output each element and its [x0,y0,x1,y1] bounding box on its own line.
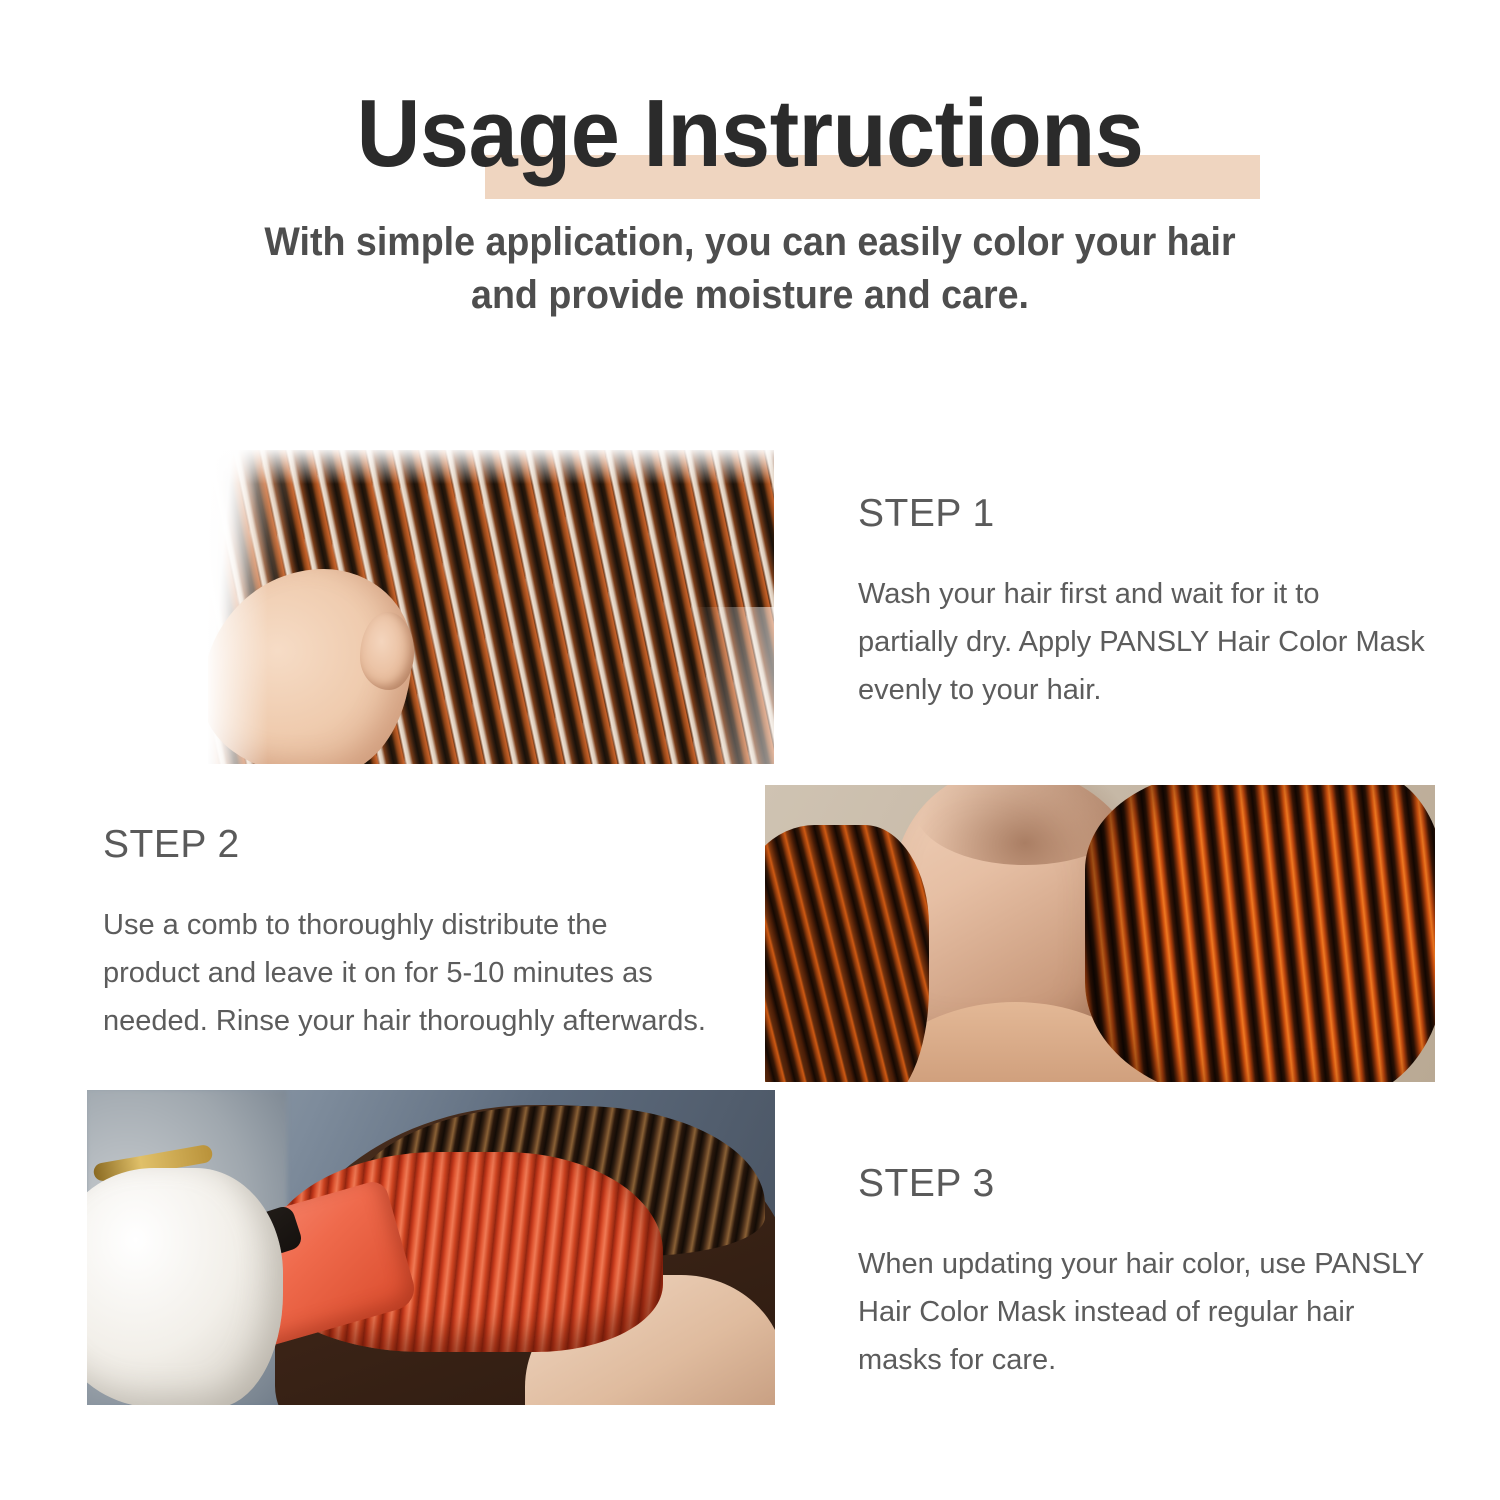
page-subtitle: With simple application, you can easily … [45,216,1455,322]
step-2-body-line-2: product and leave it on for 5-10 minutes… [103,949,743,997]
photo-right-fade [694,607,774,764]
step-2-heading: STEP 2 [103,823,743,867]
gloved-hand [87,1168,283,1405]
step-3-body-line-1: When updating your hair color, use PANSL… [858,1240,1458,1288]
page-title: Usage Instructions [60,78,1440,190]
photo-left-fade [208,450,268,764]
page-subtitle-line-1: With simple application, you can easily … [45,216,1455,269]
hair-mask-application-photo [208,450,774,764]
step-2-body-line-1: Use a comb to thoroughly distribute the [103,901,743,949]
photo-top-fade [208,450,774,484]
step-1-body-line-2: partially dry. Apply PANSLY Hair Color M… [858,618,1458,666]
step-3-body: When updating your hair color, use PANSL… [858,1240,1458,1384]
step-1-block: STEP 1 Wash your hair first and wait for… [858,492,1458,714]
step-3-heading: STEP 3 [858,1162,1458,1206]
page-title-wrap: Usage Instructions [0,78,1500,190]
page-subtitle-line-2: and provide moisture and care. [45,269,1455,322]
dye-brush-application-photo [87,1090,775,1405]
step-3-body-line-3: masks for care. [858,1336,1458,1384]
copper-hair-result-photo [765,785,1435,1082]
hair-strand-right [1085,785,1435,1082]
step-2-block: STEP 2 Use a comb to thoroughly distribu… [103,823,743,1045]
step-1-heading: STEP 1 [858,492,1458,536]
step-1-body-line-1: Wash your hair first and wait for it to [858,570,1458,618]
step-3-block: STEP 3 When updating your hair color, us… [858,1162,1458,1384]
step-3-body-line-2: Hair Color Mask instead of regular hair [858,1288,1458,1336]
step-1-body: Wash your hair first and wait for it to … [858,570,1458,714]
ear-shape [360,612,414,690]
step-2-body: Use a comb to thoroughly distribute the … [103,901,743,1045]
step-2-body-line-3: needed. Rinse your hair thoroughly after… [103,997,743,1045]
hair-strand-left [765,825,929,1082]
page-header: Usage Instructions With simple applicati… [0,0,1500,322]
step-1-body-line-3: evenly to your hair. [858,666,1458,714]
